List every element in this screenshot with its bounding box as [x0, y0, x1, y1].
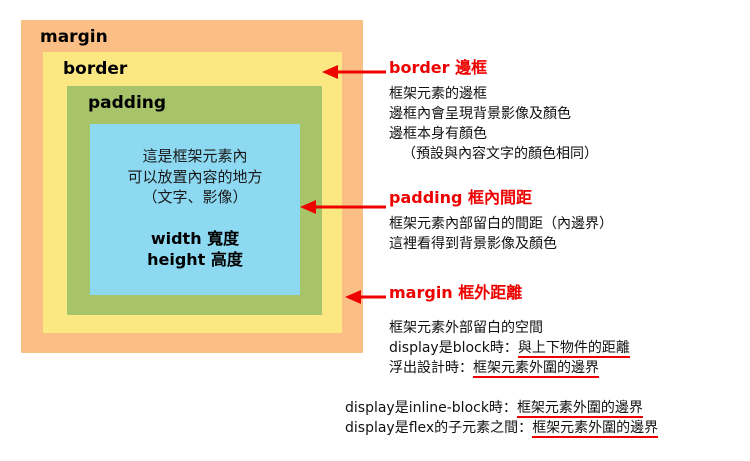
margin-extra-notes: display是inline-block時：框架元素外圍的邊界 display是… [345, 398, 658, 439]
annotation-line-prefix: 浮出設計時： [389, 360, 473, 376]
annotation-line: 框架元素內部留白的間距（內邊界） [389, 215, 613, 235]
annotation-line-underlined: 框架元素外圍的邊界 [473, 360, 599, 378]
annotation-line: （預設與內容文字的顏色相同） [389, 145, 598, 165]
annotation-line-underlined: 框架元素外圍的邊界 [532, 420, 658, 438]
height-label: height 高度 [90, 249, 300, 270]
margin-label: margin [40, 29, 108, 46]
annotation-border-title: border 邊框 [389, 60, 598, 76]
annotation-line-underlined: 框架元素外圍的邊界 [517, 400, 643, 418]
content-description-line: 這是框架元素內 [90, 146, 300, 167]
annotation-line: 邊框本身有顏色 [389, 125, 598, 145]
content-box: 這是框架元素內 可以放置內容的地方 （文字、影像） width 寬度 heigh… [90, 124, 300, 295]
annotation-line: 這裡看得到背景影像及顏色 [389, 235, 613, 255]
content-description-line: （文字、影像） [90, 187, 300, 208]
padding-label: padding [88, 95, 166, 112]
annotation-line-underlined: 與上下物件的距離 [518, 340, 630, 358]
annotation-line: 浮出設計時：框架元素外圍的邊界 [389, 359, 630, 379]
annotation-line: display是inline-block時：框架元素外圍的邊界 [345, 398, 658, 418]
annotation-padding-title: padding 框內間距 [389, 190, 613, 206]
annotation-margin-title: margin 框外距離 [389, 285, 630, 301]
annotation-line: display是block時：與上下物件的距離 [389, 339, 630, 359]
arrow-margin-icon [343, 288, 388, 306]
content-description-line: 可以放置內容的地方 [90, 167, 300, 188]
arrow-padding-icon [298, 198, 388, 216]
annotation-margin-body: 框架元素外部留白的空間 display是block時：與上下物件的距離 浮出設計… [389, 319, 630, 379]
annotation-line-prefix: display是block時： [389, 340, 518, 356]
annotation-padding: padding 框內間距 框架元素內部留白的間距（內邊界） 這裡看得到背景影像及… [389, 190, 613, 255]
border-label: border [63, 61, 127, 78]
annotation-margin: margin 框外距離 框架元素外部留白的空間 display是block時：與… [389, 285, 630, 379]
annotation-line: 框架元素的邊框 [389, 85, 598, 105]
box-model-diagram: margin border padding 這是框架元素內 可以放置內容的地方 … [21, 20, 363, 353]
content-dimensions: width 寬度 height 高度 [90, 228, 300, 271]
annotation-line-prefix: display是flex的子元素之間： [345, 420, 532, 436]
annotation-line: 邊框內會呈現背景影像及顏色 [389, 105, 598, 125]
width-label: width 寬度 [90, 228, 300, 249]
arrow-border-icon [320, 63, 388, 81]
annotation-line-prefix: display是inline-block時： [345, 400, 517, 416]
annotation-padding-body: 框架元素內部留白的間距（內邊界） 這裡看得到背景影像及顏色 [389, 215, 613, 255]
annotation-line: display是flex的子元素之間：框架元素外圍的邊界 [345, 418, 658, 438]
annotation-line: 框架元素外部留白的空間 [389, 319, 630, 339]
content-description: 這是框架元素內 可以放置內容的地方 （文字、影像） [90, 146, 300, 208]
annotation-border: border 邊框 框架元素的邊框 邊框內會呈現背景影像及顏色 邊框本身有顏色 … [389, 60, 598, 165]
annotation-border-body: 框架元素的邊框 邊框內會呈現背景影像及顏色 邊框本身有顏色 （預設與內容文字的顏… [389, 85, 598, 165]
